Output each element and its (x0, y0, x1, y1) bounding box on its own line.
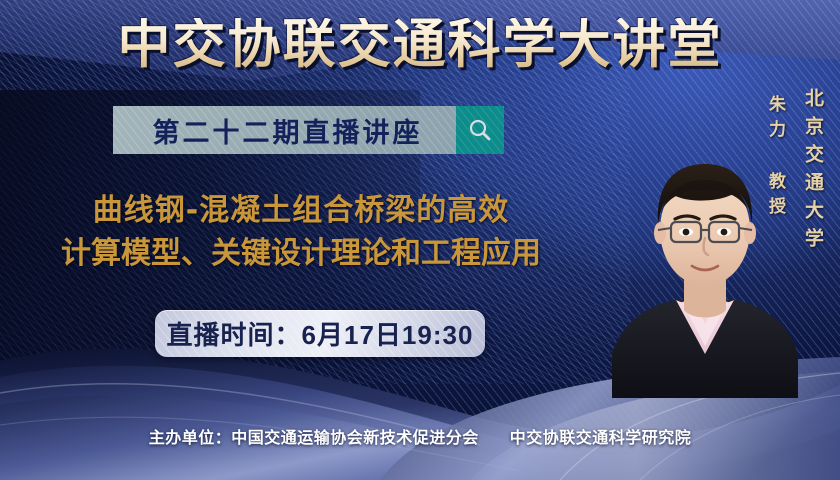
lecture-title-line-1: 曲线钢-混凝土组合桥梁的高效 (8, 190, 594, 233)
footer-institute: 中交协联交通科学研究院 (510, 430, 692, 447)
broadcast-time-label: 直播时间：6月17日19:30 (167, 315, 474, 352)
search-icon (467, 117, 493, 143)
footer-organizer: 主办单位：中国交通运输协会新技术促进分会 (149, 430, 479, 447)
footer: 主办单位：中国交通运输协会新技术促进分会 中交协联交通科学研究院 (0, 424, 840, 448)
episode-banner: 第二十二期直播讲座 (113, 106, 504, 154)
livestream-poster: 中交协联交通科学大讲堂 第二十二期直播讲座 曲线钢-混凝土组合桥梁的高效 计算模… (0, 0, 840, 480)
speaker-affiliation: 北京交通大学 (799, 88, 826, 256)
episode-banner-body: 第二十二期直播讲座 (113, 106, 456, 154)
episode-label: 第二十二期直播讲座 (147, 111, 423, 150)
broadcast-time-badge: 直播时间：6月17日19:30 (155, 310, 485, 357)
search-button[interactable] (456, 106, 504, 154)
lecture-title: 曲线钢-混凝土组合桥梁的高效 计算模型、关键设计理论和工程应用 (8, 190, 594, 275)
speaker-name: 朱力 教授 (763, 95, 788, 222)
page-title: 中交协联交通科学大讲堂 (0, 18, 840, 71)
lecture-title-line-2: 计算模型、关键设计理论和工程应用 (8, 233, 594, 276)
